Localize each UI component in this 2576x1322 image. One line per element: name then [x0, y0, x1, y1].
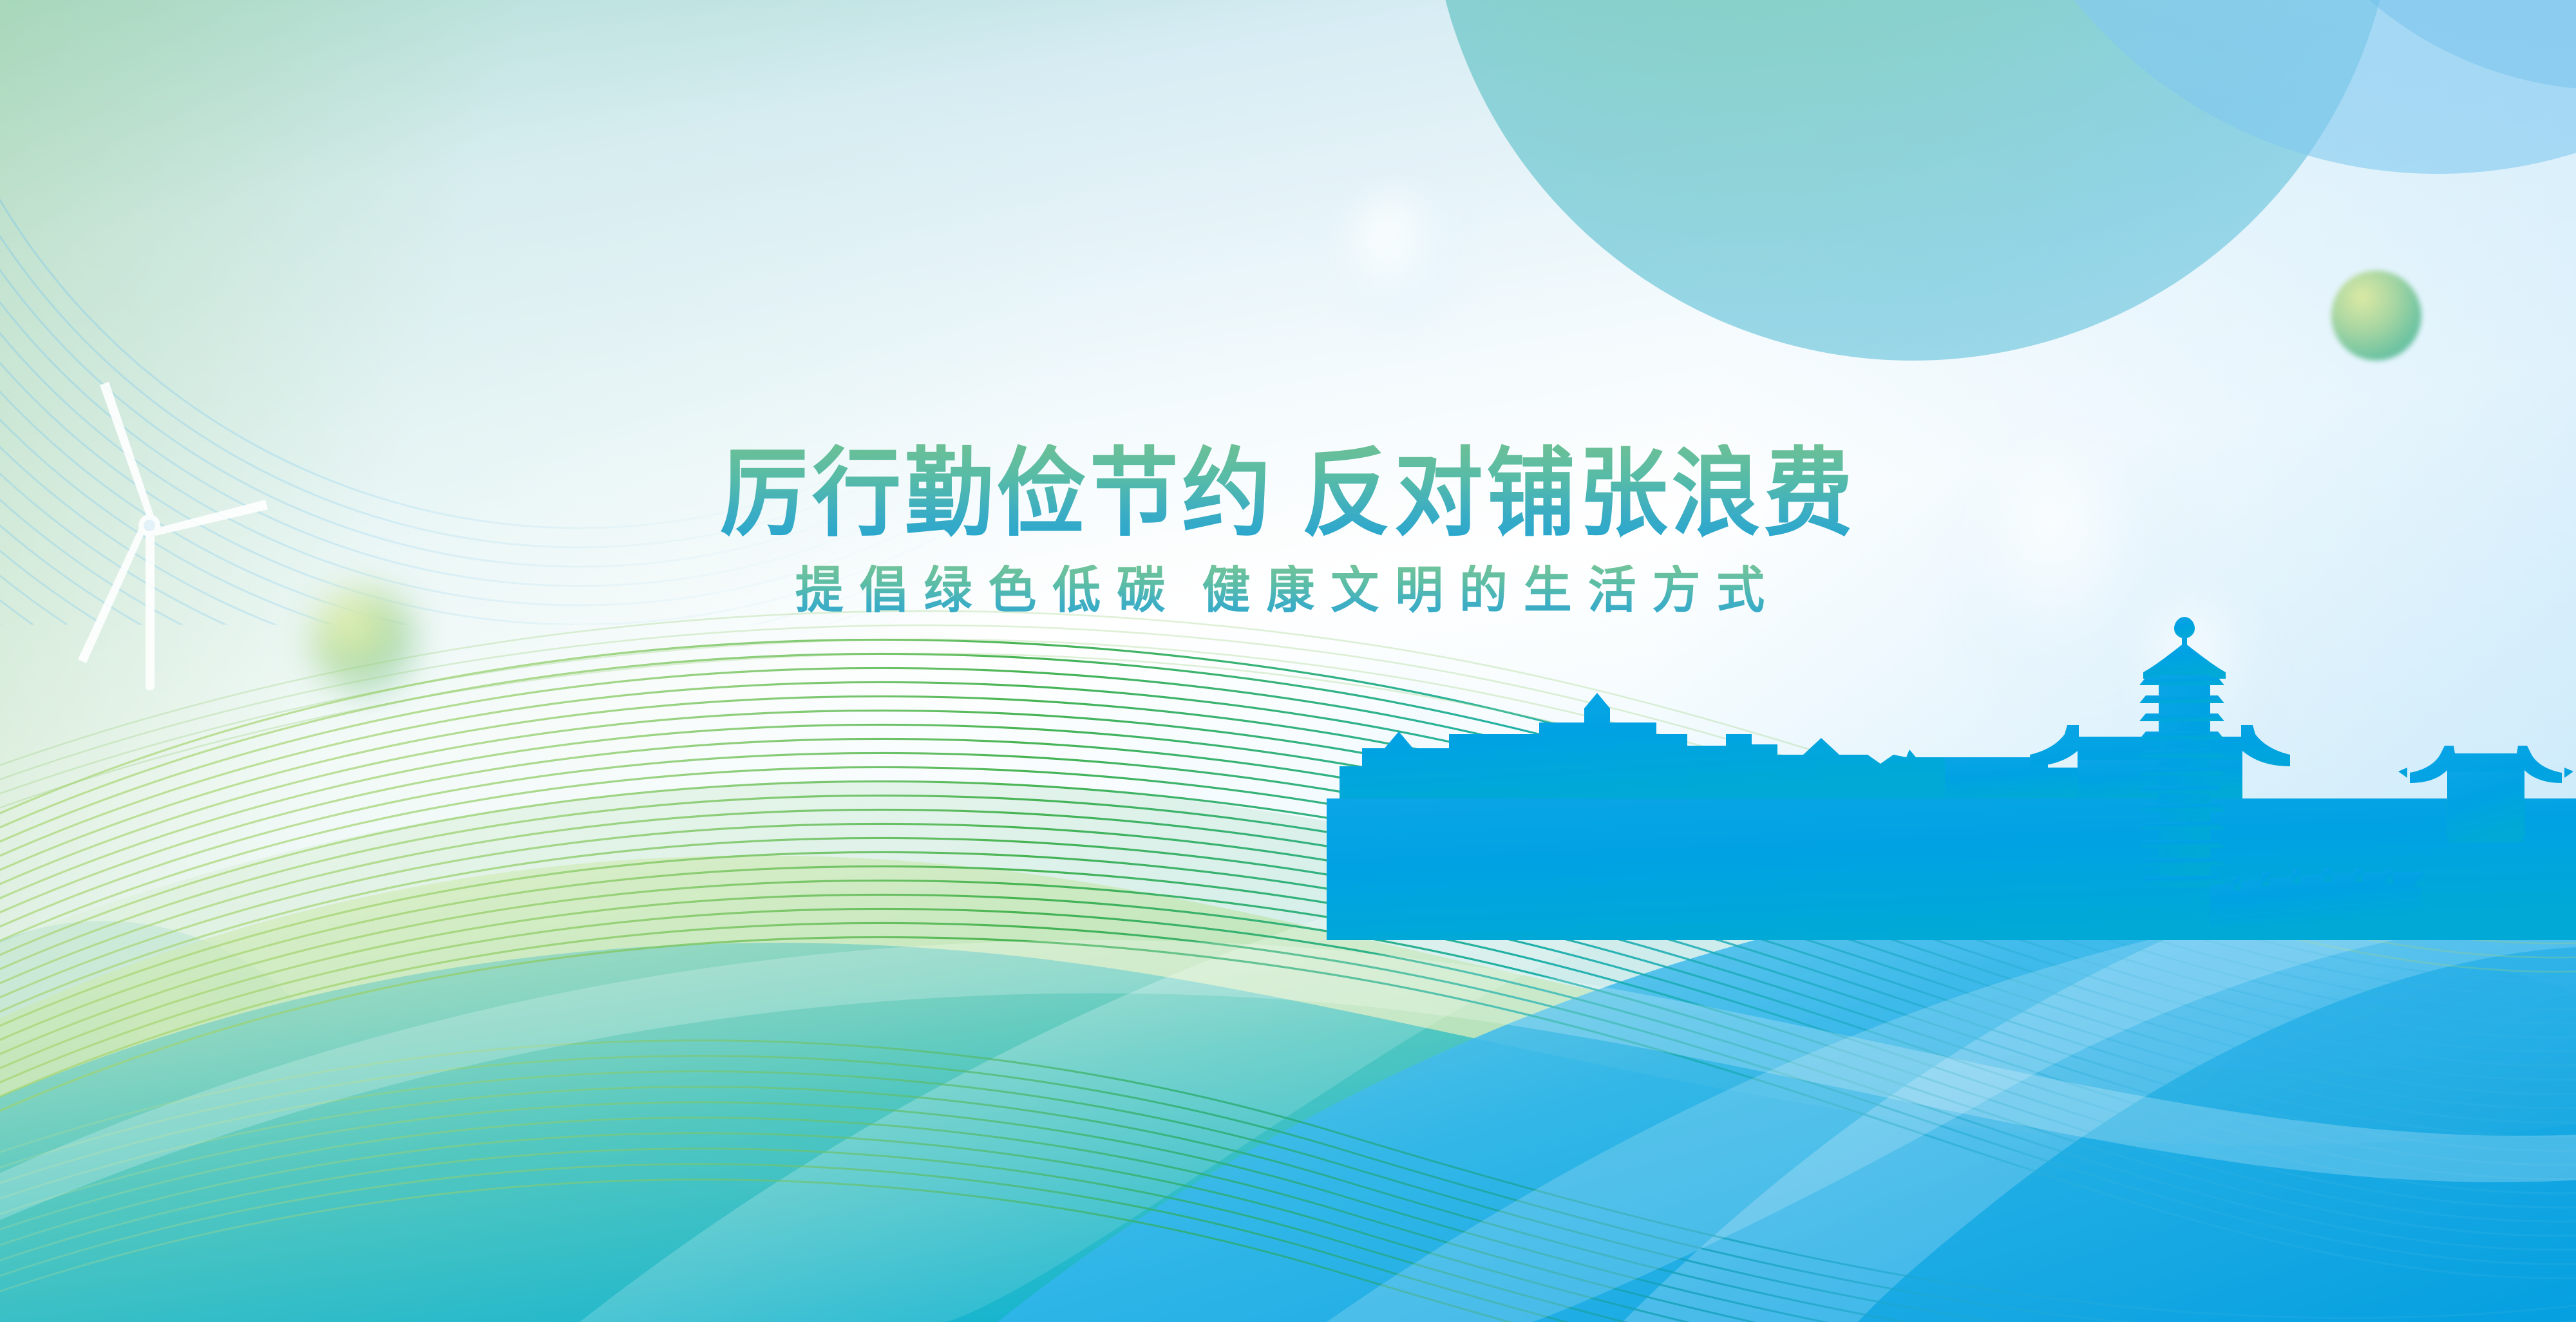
headline-block: 厉行勤俭节约反对铺张浪费 提倡绿色低碳健康文明的生活方式	[0, 444, 2576, 615]
title-left: 厉行勤俭节约	[720, 439, 1274, 547]
page-title: 厉行勤俭节约反对铺张浪费	[103, 444, 2473, 543]
city-skyline-silhouette	[1327, 605, 2576, 940]
page-subtitle: 提倡绿色低碳健康文明的生活方式	[52, 565, 2524, 615]
subtitle-right: 健康文明的生活方式	[1202, 562, 1781, 618]
subtitle-left: 提倡绿色低碳	[795, 562, 1181, 618]
title-right: 反对铺张浪费	[1302, 439, 1856, 547]
poster-canvas: 厉行勤俭节约反对铺张浪费 提倡绿色低碳健康文明的生活方式	[0, 0, 2576, 1322]
